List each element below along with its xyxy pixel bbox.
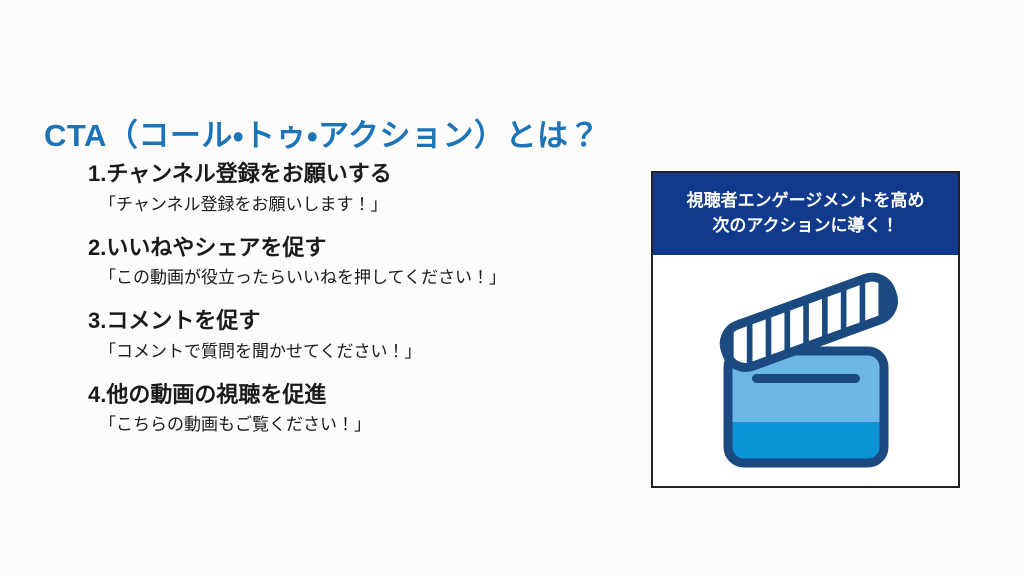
cta-item-heading: 3.コメントを促す: [88, 307, 628, 336]
cta-item-heading: 2.いいねやシェアを促す: [88, 234, 628, 263]
cta-list: 1.チャンネル登録をお願いする 「チャンネル登録をお願いします！」 2.いいねや…: [88, 160, 628, 437]
list-item: 4.他の動画の視聴を促進 「こちらの動画もご覧ください！」: [88, 381, 628, 438]
cta-item-quote: 「チャンネル登録をお願いします！」: [99, 194, 628, 217]
card-header-banner: 視聴者エンゲージメントを高め 次のアクションに導く！: [653, 173, 958, 255]
card-header-text: 視聴者エンゲージメントを高め 次のアクションに導く！: [687, 189, 925, 238]
cta-item-quote: 「コメントで質問を聞かせてください！」: [99, 341, 628, 364]
cta-item-quote: 「この動画が役立ったらいいねを押してください！」: [99, 267, 628, 290]
cta-item-heading: 1.チャンネル登録をお願いする: [88, 160, 628, 189]
card-body: [653, 255, 958, 486]
slide-canvas: CTA（コール・トゥ・アクション）とは？ 1.チャンネル登録をお願いする 「チャ…: [0, 0, 1024, 576]
cta-item-heading: 4.他の動画の視聴を促進: [88, 381, 628, 410]
list-item: 1.チャンネル登録をお願いする 「チャンネル登録をお願いします！」: [88, 160, 628, 217]
clapperboard-icon: [695, 265, 917, 473]
info-card: 視聴者エンゲージメントを高め 次のアクションに導く！: [651, 171, 960, 488]
page-title: CTA（コール・トゥ・アクション）とは？: [44, 117, 600, 156]
cta-item-quote: 「こちらの動画もご覧ください！」: [99, 414, 628, 437]
list-item: 3.コメントを促す 「コメントで質問を聞かせてください！」: [88, 307, 628, 364]
list-item: 2.いいねやシェアを促す 「この動画が役立ったらいいねを押してください！」: [88, 234, 628, 291]
